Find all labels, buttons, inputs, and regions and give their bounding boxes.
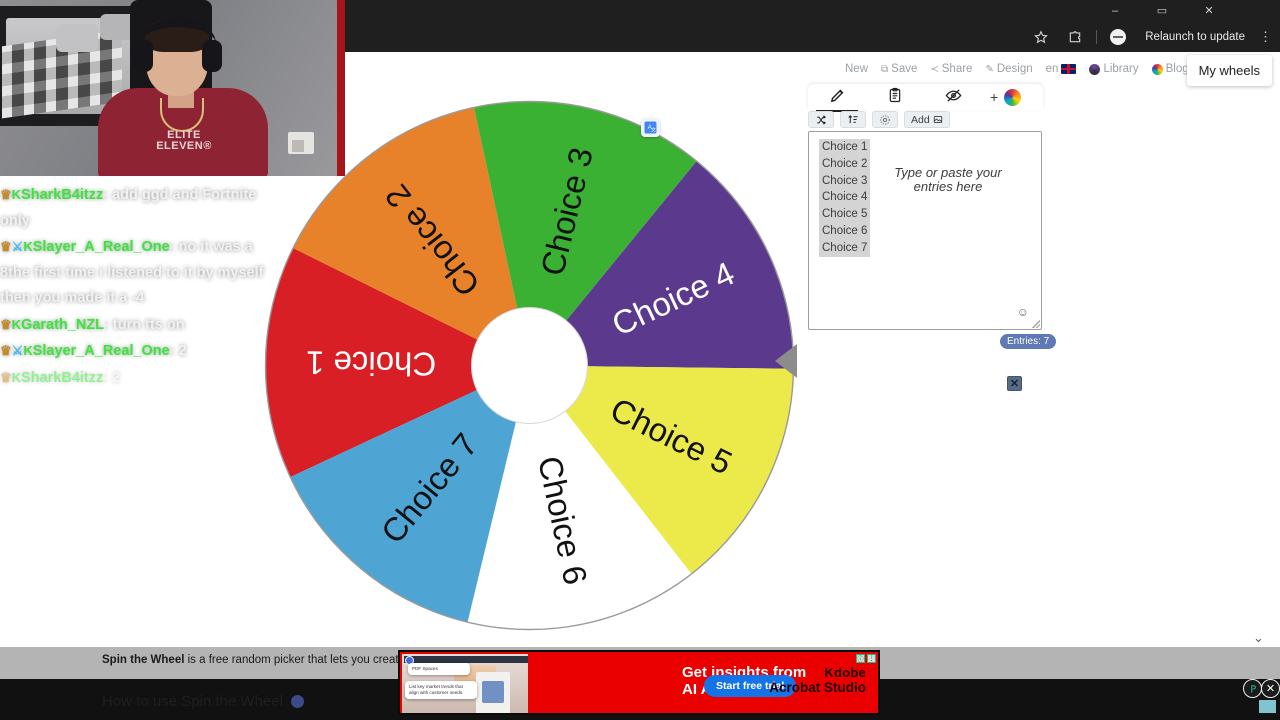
- sword-badge-icon: ⚔: [12, 338, 24, 364]
- entry-label: Choice 3: [819, 173, 870, 190]
- ad-thumb-topbar: [404, 656, 528, 663]
- ad-thumbnail: PDF Spaces List key market trends that a…: [402, 654, 528, 715]
- entry-label: Choice 1: [819, 139, 870, 156]
- ad-product-image: [476, 672, 510, 715]
- window-minimize-button[interactable]: –: [1098, 0, 1132, 22]
- window-close-button[interactable]: ✕: [1192, 0, 1226, 22]
- my-wheels-button[interactable]: My wheels: [1187, 55, 1272, 86]
- add-image-label: Add: [911, 114, 930, 126]
- k-badge-icon: Κ: [23, 234, 32, 260]
- emoji-picker-button[interactable]: ☺: [1017, 305, 1029, 319]
- chat-text: 2: [179, 343, 187, 359]
- chat-message: ♛ Κ SharkB4itzz: 2: [0, 365, 272, 392]
- share-icon: ≺: [930, 64, 938, 75]
- entry-label: Choice 5: [819, 206, 870, 223]
- howto-heading-label: How to use Spin the Wheel: [102, 693, 283, 710]
- panel-tabs: +: [808, 84, 1043, 110]
- ad-info-icon[interactable]: ⓘ: [856, 654, 865, 663]
- color-wheel-icon[interactable]: [1004, 89, 1021, 106]
- webcam-overlay: ELITE ELEVEN®: [0, 0, 345, 176]
- entries-placeholder: Type or paste your entries here: [883, 166, 1013, 194]
- chat-colon: :: [103, 370, 112, 386]
- chat-username[interactable]: Slayer_A_Real_One: [33, 239, 170, 255]
- crown-badge-icon: ♛: [0, 365, 12, 391]
- k-badge-icon: Κ: [23, 338, 32, 364]
- chat-colon: :: [170, 239, 179, 255]
- wheel-pointer-icon: [775, 344, 797, 378]
- chat-colon: :: [104, 317, 113, 333]
- entry-row[interactable]: Choice 2: [819, 156, 870, 173]
- chat-username[interactable]: Garath_NZL: [21, 317, 104, 333]
- tab-edit[interactable]: [808, 87, 866, 108]
- color-wheel-icon: [1152, 64, 1163, 75]
- entry-label: Choice 2: [819, 156, 870, 173]
- entries-list[interactable]: Choice 1Choice 2Choice 3Choice 4Choice 5…: [819, 139, 870, 257]
- k-badge-icon: Κ: [12, 182, 21, 208]
- chat-colon: :: [170, 343, 179, 359]
- shirt-text: ELITE ELEVEN®: [136, 130, 232, 152]
- entries-textarea[interactable]: Choice 1Choice 2Choice 3Choice 4Choice 5…: [808, 131, 1042, 330]
- add-image-button[interactable]: Add: [904, 111, 950, 128]
- flag-uk-icon: [1061, 64, 1076, 74]
- close-panel-button[interactable]: ✕: [1007, 376, 1022, 391]
- chat-text: 2: [112, 370, 120, 386]
- ad-controls[interactable]: ⓘ ⋮: [856, 654, 876, 663]
- chat-username[interactable]: Slayer_A_Real_One: [33, 343, 170, 359]
- wheel-slice-label: Choice 1: [306, 344, 437, 383]
- chat-overlay: ♛ Κ SharkB4itzz: add ggd and Fortnite on…: [0, 182, 272, 391]
- window-maximize-button[interactable]: ▭: [1145, 0, 1179, 22]
- tab-hide[interactable]: [924, 87, 982, 108]
- save-icon: ⧉: [881, 64, 888, 75]
- ad-card-body-text: List key market trends that align with c…: [409, 684, 463, 695]
- shuffle-button[interactable]: [808, 111, 834, 128]
- zoom-privacy-button[interactable]: [1243, 679, 1262, 698]
- chat-text: turn tts on: [113, 317, 185, 333]
- crown-badge-icon: ♛: [0, 312, 12, 338]
- chat-message: ♛ ⚔ Κ Slayer_A_Real_One: 2: [0, 338, 272, 365]
- avatar[interactable]: [1105, 26, 1131, 48]
- entry-label: Choice 6: [819, 223, 870, 240]
- chat-username[interactable]: SharkB4itzz: [21, 187, 103, 203]
- howto-badge-icon: [291, 695, 304, 708]
- design-button[interactable]: ✎Design: [985, 63, 1032, 75]
- k-badge-icon: Κ: [12, 365, 21, 391]
- entry-row[interactable]: Choice 1: [819, 139, 870, 156]
- star-icon[interactable]: [1028, 26, 1054, 48]
- advertisement-banner[interactable]: PDF Spaces List key market trends that a…: [398, 650, 880, 715]
- entry-row[interactable]: Choice 6: [819, 223, 870, 240]
- ad-card-title: PDF Spaces: [408, 663, 470, 675]
- tab-results[interactable]: [866, 87, 924, 108]
- blog-button[interactable]: Blog: [1152, 63, 1189, 75]
- ad-card-title-text: PDF Spaces: [412, 666, 438, 671]
- teal-marker: [1259, 700, 1276, 713]
- chat-message: ♛ Κ SharkB4itzz: add ggd and Fortnite on…: [0, 182, 272, 234]
- resize-handle[interactable]: [1032, 320, 1040, 328]
- ad-brand: Κdobe Acrobat Studio: [769, 665, 866, 695]
- crown-badge-icon: ♛: [0, 182, 12, 208]
- howto-heading: How to use Spin the Wheel: [102, 693, 304, 710]
- entry-row[interactable]: Choice 3: [819, 173, 870, 190]
- entry-label: Choice 7: [819, 240, 870, 257]
- sword-badge-icon: ⚔: [12, 234, 24, 260]
- library-button[interactable]: Library: [1089, 63, 1138, 75]
- chevron-down-icon[interactable]: ⌄: [1253, 630, 1264, 646]
- add-tab-button[interactable]: +: [990, 89, 998, 105]
- ad-brand-line1: Κdobe: [769, 665, 866, 680]
- entry-row[interactable]: Choice 7: [819, 240, 870, 257]
- chat-username[interactable]: SharkB4itzz: [21, 370, 103, 386]
- entries-count-badge: Entries: 7: [1000, 334, 1056, 349]
- headphones-icon: [133, 40, 153, 72]
- browser-menu-icon[interactable]: ⋮: [1259, 29, 1272, 45]
- entry-row[interactable]: Choice 4: [819, 189, 870, 206]
- toolbar-divider: [1096, 30, 1097, 44]
- language-selector[interactable]: en: [1046, 63, 1077, 75]
- new-wheel-button[interactable]: New: [845, 63, 868, 75]
- entry-label: Choice 4: [819, 189, 870, 206]
- screen-root: – ▭ ✕ Relaunch to update ⋮ New ⧉Save ≺Sh…: [0, 0, 1280, 720]
- chat-colon: :: [103, 187, 112, 203]
- sort-button[interactable]: [840, 111, 866, 128]
- close-overlay-button[interactable]: ✕: [1261, 679, 1280, 698]
- ad-brand-line2: Acrobat Studio: [769, 680, 866, 695]
- entries-mini-toolbar: Add: [808, 111, 950, 128]
- browser-toolbar: Relaunch to update ⋮: [345, 22, 1280, 52]
- chat-message: ♛ ⚔ Κ Slayer_A_Real_One: no it was a 8th…: [0, 234, 272, 312]
- google-translate-icon[interactable]: A文: [641, 118, 660, 137]
- crown-badge-icon: ♛: [0, 338, 12, 364]
- puzzle-icon[interactable]: [1062, 26, 1088, 48]
- settings-button[interactable]: [872, 111, 898, 128]
- share-button[interactable]: ≺Share: [930, 63, 972, 75]
- ad-options-icon[interactable]: ⋮: [867, 654, 876, 663]
- save-button[interactable]: ⧉Save: [881, 63, 917, 75]
- browser-titlebar: – ▭ ✕: [345, 0, 1280, 22]
- chat-message: ♛ Κ Garath_NZL: turn tts on: [0, 312, 272, 339]
- shirt-line2: ELEVEN®: [136, 141, 232, 152]
- k-badge-icon: Κ: [12, 312, 21, 338]
- relaunch-to-update-button[interactable]: Relaunch to update: [1139, 28, 1251, 46]
- ad-card-body: List key market trends that align with c…: [405, 681, 477, 699]
- entry-row[interactable]: Choice 5: [819, 206, 870, 223]
- crown-badge-icon: ♛: [0, 234, 12, 260]
- intro-strong: Spin the Wheel: [102, 654, 184, 666]
- library-blob-icon: [1089, 64, 1100, 75]
- pencil-icon: ✎: [985, 64, 993, 75]
